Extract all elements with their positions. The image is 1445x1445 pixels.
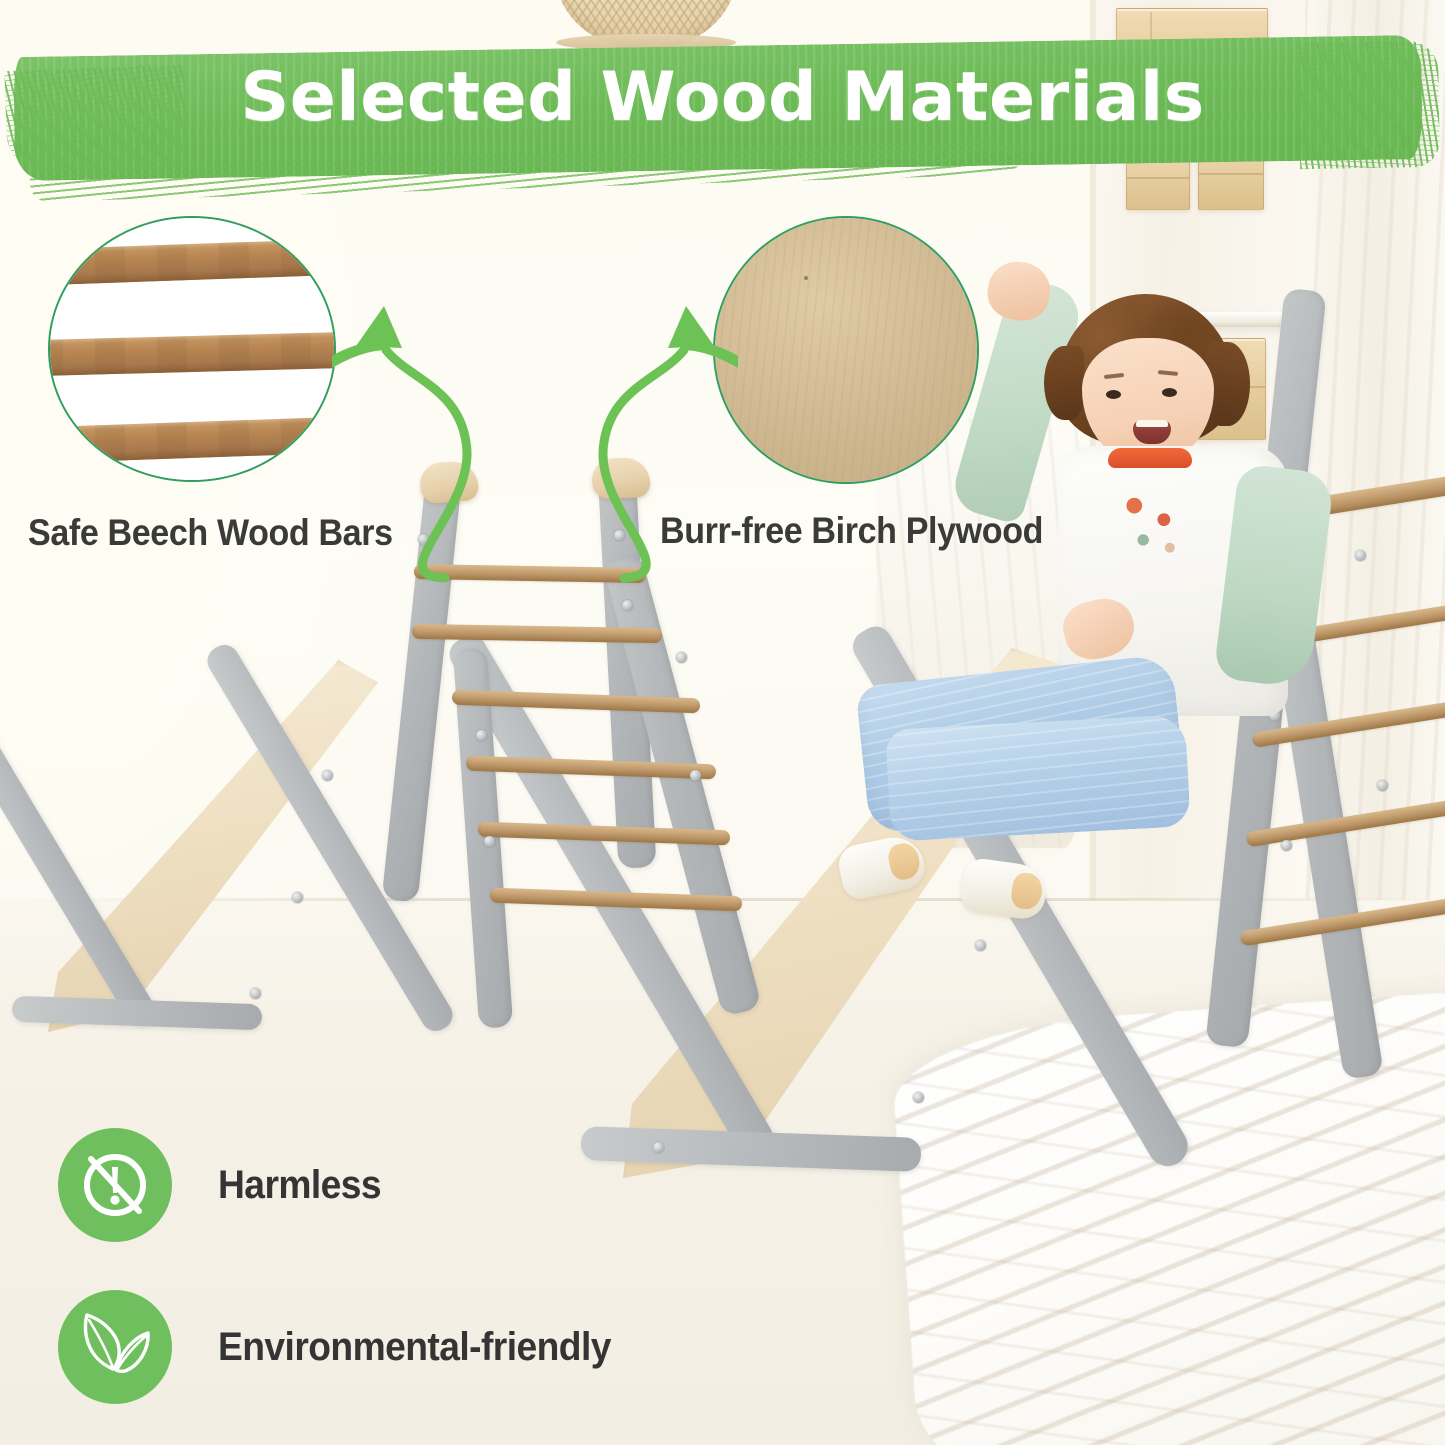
child-on-slide <box>940 270 1360 950</box>
screw-icon <box>476 730 487 741</box>
child-eyebrow <box>1158 370 1178 376</box>
child-eye <box>1106 390 1121 399</box>
screw-icon <box>322 770 333 781</box>
ladder-rung <box>412 624 662 643</box>
child-eyebrow <box>1104 373 1124 379</box>
child-mouth <box>1133 420 1171 444</box>
no-hazard-icon <box>77 1147 153 1223</box>
screw-icon <box>1377 780 1388 791</box>
feature-label-harmless: Harmless <box>218 1163 381 1208</box>
child-sock <box>959 856 1050 921</box>
feature-environmental-friendly: Environmental-friendly <box>58 1290 640 1404</box>
screw-icon <box>690 770 701 781</box>
beech-bar <box>48 238 336 285</box>
screw-icon <box>622 600 633 611</box>
beech-bar-swatch <box>50 218 334 480</box>
child-jeans-lower <box>885 714 1190 842</box>
detail-label-birch-plywood: Burr-free Birch Plywood <box>660 510 1043 552</box>
birch-plywood-swatch <box>715 218 977 482</box>
beech-bar <box>48 416 336 463</box>
detail-circle-beech-bars <box>48 216 336 482</box>
child-shirt-collar <box>1108 448 1192 468</box>
screw-icon <box>653 1142 664 1153</box>
product-feature-graphic: Safe Beech Wood Bars Burr-free Birch Ply… <box>0 0 1445 1445</box>
child-eye <box>1162 388 1177 397</box>
header-banner: Selected Wood Materials <box>0 38 1445 190</box>
detail-circle-birch-plywood <box>713 216 979 484</box>
screw-icon <box>250 988 261 999</box>
screw-icon <box>292 892 303 903</box>
leaves-icon <box>75 1307 155 1387</box>
child-shirt-print <box>1118 490 1192 568</box>
feature-label-environmental-friendly: Environmental-friendly <box>218 1325 611 1370</box>
page-title: Selected Wood Materials <box>0 64 1445 132</box>
screw-icon <box>484 836 495 847</box>
environmental-friendly-badge <box>58 1290 172 1404</box>
screw-icon <box>913 1092 924 1103</box>
harmless-badge <box>58 1128 172 1242</box>
screw-icon <box>676 652 687 663</box>
detail-label-beech-bars: Safe Beech Wood Bars <box>28 512 393 554</box>
feature-harmless: Harmless <box>58 1128 393 1242</box>
beech-bar <box>48 332 336 376</box>
